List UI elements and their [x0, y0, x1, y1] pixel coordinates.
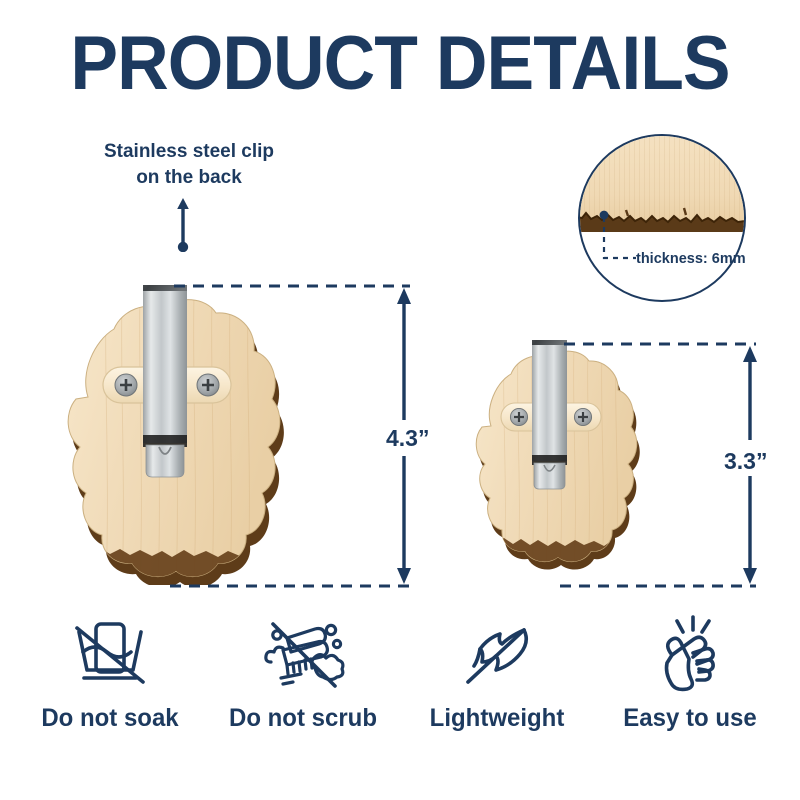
feature-row: Do not soak: [0, 612, 800, 733]
clip-callout-line1: Stainless steel clip: [64, 139, 314, 165]
clip-callout: Stainless steel clip on the back: [64, 139, 314, 191]
screw-left: [510, 408, 527, 425]
clip-callout-line2: on the back: [64, 165, 314, 191]
dimension-label-large: 4.3”: [386, 425, 429, 452]
page-title: PRODUCT DETAILS: [24, 26, 776, 102]
dimension-label-small: 3.3”: [724, 448, 767, 475]
no-soak-icon: [14, 612, 206, 698]
feature-lightweight: Lightweight: [401, 612, 593, 733]
tap-hand-icon: [594, 612, 786, 698]
feather-icon: [401, 612, 593, 698]
feature-label: Do not soak: [18, 704, 202, 733]
feature-do-not-scrub: Do not scrub: [207, 612, 399, 733]
dot-marker-icon: [178, 242, 188, 252]
screw-right: [197, 374, 219, 396]
burnt-edge-magnified: [580, 136, 744, 300]
screw-right: [574, 408, 591, 425]
feature-label: Lightweight: [404, 704, 588, 733]
up-arrow-icon: [175, 196, 191, 252]
product-details-infographic: PRODUCT DETAILS Stainless steel clip on …: [0, 0, 800, 800]
thickness-label: thickness: 6mm: [636, 251, 746, 267]
clip-band: [143, 291, 187, 443]
feature-label: Easy to use: [598, 704, 782, 733]
clip-bottom-tab: [534, 463, 565, 489]
feature-label: Do not scrub: [211, 704, 395, 733]
large-wood-plaque: [60, 285, 310, 585]
thickness-inset-circle: [578, 134, 746, 302]
feature-do-not-soak: Do not soak: [14, 612, 206, 733]
no-scrub-icon: [207, 612, 399, 698]
clip-bottom-tab: [146, 445, 184, 477]
clip-band: [532, 345, 567, 461]
screw-left: [115, 374, 137, 396]
feature-easy-to-use: Easy to use: [594, 612, 786, 733]
small-wood-plaque: [470, 340, 660, 572]
